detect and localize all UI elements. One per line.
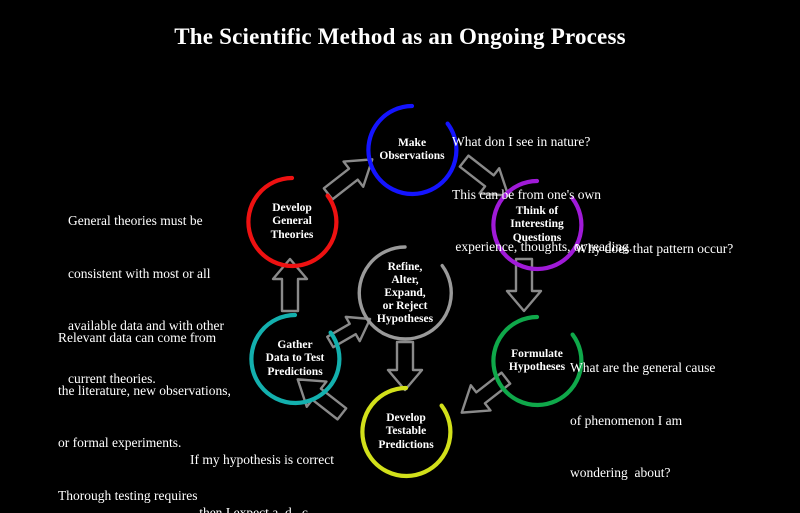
annotation-line: What don I see in nature? xyxy=(452,133,632,151)
refine-alter-expand-or-reject-hypotheses-ring xyxy=(353,241,457,345)
annotation-line: wondering about? xyxy=(570,464,715,482)
page-title: The Scientific Method as an Ongoing Proc… xyxy=(0,24,800,50)
annotation-line: Thorough testing requires xyxy=(58,487,231,505)
annotation-line: current theories. xyxy=(68,370,224,388)
annotation-line: Why does that pattern occur? xyxy=(575,240,733,258)
gather-data-to-test-predictions-ring xyxy=(245,309,345,409)
annotation-questions-note: Why does that pattern occur? xyxy=(575,205,733,293)
develop-general-theories-ring xyxy=(242,172,342,272)
annotation-line: General theories must be xyxy=(68,212,224,230)
annotation-line: or formal experiments. xyxy=(58,434,231,452)
make-observations-ring xyxy=(362,100,462,200)
annotation-line: of phenomenon I am xyxy=(570,412,715,430)
node-gather-data-to-test-predictions[interactable]: Gather Data to Test Predictions xyxy=(245,309,345,409)
annotation-theories-note: General theories must be consistent with… xyxy=(68,177,224,422)
annotation-hypotheses-note: What are the general cause of phenomenon… xyxy=(570,324,715,513)
annotation-line: available data and with other xyxy=(68,317,224,335)
annotation-line: This can be from one's own xyxy=(452,186,632,204)
scientific-method-diagram: The Scientific Method as an Ongoing Proc… xyxy=(0,0,800,513)
annotation-line: consistent with most or all xyxy=(68,265,224,283)
node-refine-alter-expand-or-reject-hypotheses[interactable]: Refine, Alter, Expand, or Reject Hypothe… xyxy=(353,241,457,345)
node-make-observations[interactable]: Make Observations xyxy=(362,100,462,200)
develop-testable-predictions-ring xyxy=(356,382,456,482)
node-develop-general-theories[interactable]: Develop General Theories xyxy=(242,172,342,272)
annotation-line: What are the general cause xyxy=(570,359,715,377)
node-develop-testable-predictions[interactable]: Develop Testable Predictions xyxy=(356,382,456,482)
